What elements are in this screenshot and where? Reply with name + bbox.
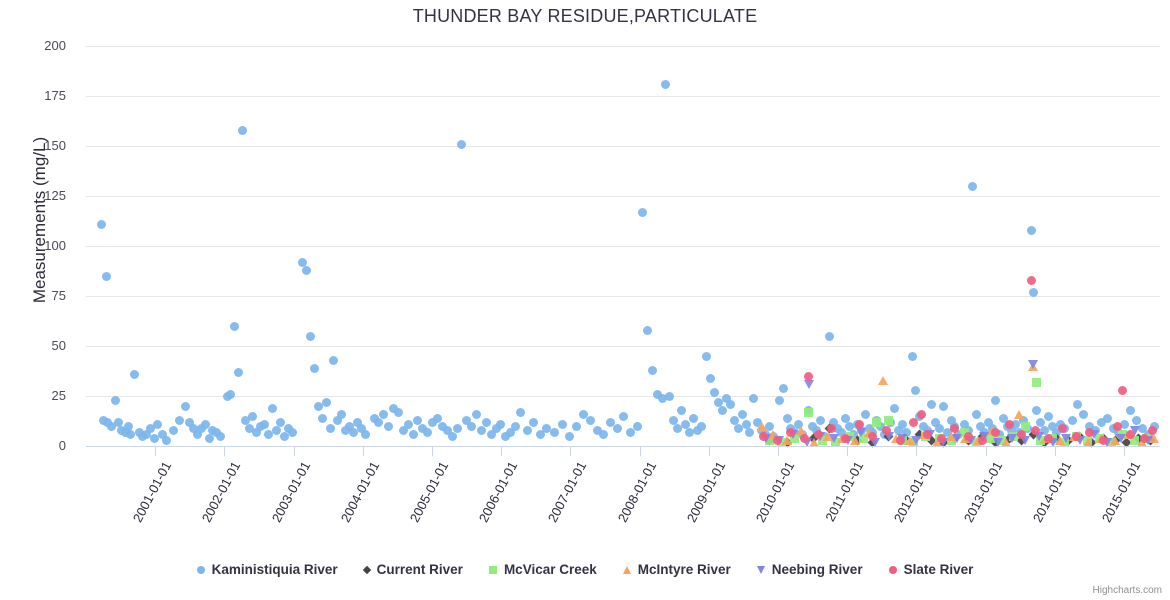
data-point <box>1075 431 1085 441</box>
data-point <box>1134 433 1144 443</box>
data-point <box>1149 434 1159 443</box>
x-axis-tick-mark <box>986 447 987 456</box>
data-point <box>99 416 108 425</box>
data-point <box>988 424 997 433</box>
y-axis-tick-label: 100 <box>6 238 66 253</box>
data-point <box>1126 430 1135 439</box>
data-point <box>734 424 743 433</box>
x-axis-tick-label: 2014-01-01 <box>1030 459 1074 525</box>
data-point <box>935 424 944 433</box>
data-point <box>260 420 269 429</box>
data-point <box>915 412 924 421</box>
data-point <box>1052 433 1062 443</box>
data-point <box>753 418 762 427</box>
data-point <box>1052 428 1061 437</box>
data-point <box>829 434 839 443</box>
data-point <box>722 394 731 403</box>
data-point <box>349 428 358 437</box>
gridline <box>86 96 1160 97</box>
data-point <box>950 433 960 443</box>
gridline <box>86 146 1160 147</box>
data-point <box>103 418 112 427</box>
data-point <box>1114 428 1123 437</box>
data-point <box>1150 422 1159 431</box>
x-axis-tick-mark <box>570 447 571 456</box>
gridline <box>86 296 1160 297</box>
legend-marker-icon <box>889 566 897 574</box>
data-point <box>908 352 917 361</box>
data-point <box>280 432 289 441</box>
data-point <box>248 412 257 421</box>
data-point <box>1028 360 1038 369</box>
legend-label: Neebing River <box>772 562 863 577</box>
x-axis-line <box>86 446 1160 447</box>
data-point <box>911 436 921 445</box>
data-point <box>972 410 981 419</box>
gridline <box>86 246 1160 247</box>
data-point <box>268 404 277 413</box>
x-axis-tick-mark <box>432 447 433 456</box>
data-point <box>511 422 520 431</box>
x-axis-tick-mark <box>363 447 364 456</box>
data-point <box>399 426 408 435</box>
data-point <box>1007 426 1016 435</box>
y-axis-tick-label: 200 <box>6 38 66 53</box>
data-point <box>619 412 628 421</box>
data-point <box>1085 422 1094 431</box>
data-point <box>197 424 206 433</box>
data-point <box>977 431 987 441</box>
data-point <box>779 384 788 393</box>
data-point <box>818 436 827 445</box>
x-axis-tick-label: 2004-01-01 <box>338 459 382 525</box>
data-point <box>1091 426 1100 435</box>
data-point <box>937 434 946 443</box>
x-axis-tick-label: 2015-01-01 <box>1099 459 1143 525</box>
data-point <box>516 408 525 417</box>
data-point <box>849 430 858 439</box>
data-point <box>264 430 273 439</box>
data-point <box>823 432 833 441</box>
data-point <box>995 430 1004 439</box>
legend-marker-icon <box>623 566 631 574</box>
data-point <box>808 422 817 431</box>
data-point <box>773 436 782 445</box>
data-point <box>890 404 899 413</box>
data-point <box>1016 435 1026 445</box>
data-point <box>226 390 235 399</box>
data-point <box>852 435 862 445</box>
data-point <box>952 434 962 443</box>
data-point <box>284 424 293 433</box>
data-point <box>333 416 342 425</box>
legend-label: McVicar Creek <box>504 562 597 577</box>
data-point <box>827 424 836 433</box>
data-point <box>950 424 959 433</box>
data-point <box>947 416 956 425</box>
data-point <box>97 220 106 229</box>
data-point <box>919 430 929 439</box>
data-point <box>586 416 595 425</box>
data-point <box>1085 428 1094 437</box>
data-point <box>288 428 297 437</box>
data-point <box>1005 433 1015 443</box>
x-axis-tick-mark <box>709 447 710 456</box>
data-point <box>891 434 901 443</box>
data-point <box>310 364 319 373</box>
y-axis-tick-label: 175 <box>6 88 66 103</box>
data-point <box>829 418 838 427</box>
data-point <box>919 422 928 431</box>
data-point <box>542 424 551 433</box>
data-point <box>915 429 925 439</box>
data-point <box>931 418 940 427</box>
data-point <box>579 410 588 419</box>
data-point <box>884 432 894 441</box>
data-point <box>121 428 130 437</box>
data-point <box>845 422 854 431</box>
data-point <box>1023 424 1032 433</box>
data-point <box>815 432 825 441</box>
data-point <box>868 432 877 441</box>
data-point <box>980 428 989 437</box>
x-axis-tick-mark <box>294 447 295 456</box>
data-point <box>816 416 825 425</box>
data-point <box>130 370 139 379</box>
data-point <box>917 410 926 419</box>
data-point <box>897 434 907 443</box>
x-axis-tick-mark <box>916 447 917 456</box>
data-point <box>738 410 747 419</box>
data-point <box>1103 414 1112 423</box>
data-point <box>1061 434 1071 443</box>
data-point <box>162 436 171 445</box>
data-point <box>1011 420 1020 429</box>
data-point <box>613 424 622 433</box>
data-point <box>943 428 952 437</box>
y-axis-tick-label: 0 <box>6 438 66 453</box>
data-point <box>361 430 370 439</box>
data-point <box>1040 426 1049 435</box>
x-axis-tick-label: 2001-01-01 <box>130 459 174 525</box>
data-point <box>677 406 686 415</box>
data-point <box>960 420 969 429</box>
data-point <box>413 416 422 425</box>
data-point <box>1042 434 1052 443</box>
data-point <box>927 400 936 409</box>
data-point <box>462 416 471 425</box>
data-point <box>1009 432 1018 441</box>
data-point <box>252 428 261 437</box>
data-point <box>448 432 457 441</box>
data-point <box>1116 434 1126 443</box>
data-point <box>798 430 807 439</box>
legend-item-mcintyre-river[interactable]: McIntyre River <box>623 562 731 577</box>
data-point <box>845 432 854 441</box>
y-axis-title: Measurements (mg/L) <box>30 30 50 410</box>
data-point <box>1020 436 1030 445</box>
gridline <box>86 46 1160 47</box>
data-point <box>1118 386 1127 395</box>
data-point <box>749 394 758 403</box>
legend-marker-icon <box>489 566 497 574</box>
data-point <box>201 420 210 429</box>
data-point <box>1044 412 1053 421</box>
data-point <box>208 426 217 435</box>
data-point <box>673 424 682 433</box>
data-point <box>234 368 243 377</box>
data-point <box>984 418 993 427</box>
data-point <box>960 434 970 443</box>
x-axis-tick-mark <box>778 447 779 456</box>
data-point <box>911 386 920 395</box>
legend-label: Kaministiquia River <box>212 562 338 577</box>
data-point <box>302 266 311 275</box>
data-point <box>1014 410 1024 419</box>
data-point <box>872 416 881 425</box>
legend-marker-icon <box>197 566 205 574</box>
x-axis-tick-label: 2009-01-01 <box>684 459 728 525</box>
x-axis-tick-mark <box>155 447 156 456</box>
data-point <box>1096 434 1106 443</box>
data-point <box>757 422 767 431</box>
data-point <box>1145 435 1155 445</box>
data-point <box>256 422 265 431</box>
data-point <box>782 436 792 445</box>
data-point <box>812 426 821 435</box>
data-point <box>693 426 702 435</box>
data-point <box>960 428 969 437</box>
legend-marker-icon <box>757 566 765 574</box>
data-point <box>978 436 987 445</box>
data-point <box>946 432 956 441</box>
data-point <box>341 426 350 435</box>
data-point <box>790 434 799 443</box>
data-point <box>565 432 574 441</box>
legend-item-mcvicar-creek[interactable]: McVicar Creek <box>489 562 597 577</box>
data-point <box>814 430 823 439</box>
data-point <box>1021 422 1030 431</box>
data-point <box>886 418 895 427</box>
data-point <box>169 426 178 435</box>
data-point <box>428 418 437 427</box>
data-point <box>272 426 281 435</box>
data-point <box>114 418 123 427</box>
data-point <box>193 430 202 439</box>
data-point <box>964 435 974 445</box>
data-point <box>878 376 888 385</box>
data-point <box>135 428 144 437</box>
legend-item-kaministiquia-river[interactable]: Kaministiquia River <box>197 562 338 577</box>
data-point <box>927 435 937 445</box>
data-point <box>902 428 911 437</box>
data-point <box>954 430 963 439</box>
y-axis-tick-label: 150 <box>6 138 66 153</box>
data-point <box>1036 418 1045 427</box>
data-point <box>899 433 909 443</box>
data-point <box>626 428 635 437</box>
data-point <box>357 424 366 433</box>
data-point <box>230 322 239 331</box>
data-point <box>861 410 870 419</box>
data-point <box>661 80 670 89</box>
data-point <box>884 431 894 441</box>
y-axis-tick-label: 25 <box>6 388 66 403</box>
data-point <box>345 422 354 431</box>
data-point <box>529 418 538 427</box>
data-point <box>572 422 581 431</box>
data-point <box>379 410 388 419</box>
data-point <box>765 436 774 445</box>
data-point <box>1143 436 1153 445</box>
x-axis-tick-label: 2008-01-01 <box>614 459 658 525</box>
data-point <box>921 432 930 441</box>
data-point <box>1056 420 1065 429</box>
data-point <box>947 436 956 445</box>
data-point <box>117 426 126 435</box>
data-point <box>212 428 221 437</box>
data-point <box>833 424 842 433</box>
data-point <box>1124 430 1134 439</box>
data-point <box>882 426 891 435</box>
data-point <box>898 420 907 429</box>
data-point <box>1126 406 1135 415</box>
plot-area: 0255075100125150175200 <box>86 46 1160 446</box>
data-point <box>1034 432 1044 441</box>
legend-item-neebing-river[interactable]: Neebing River <box>757 562 863 577</box>
data-point <box>669 416 678 425</box>
data-point <box>1138 424 1147 433</box>
data-point <box>457 140 466 149</box>
legend-item-current-river[interactable]: Current River <box>364 562 463 577</box>
data-point <box>1028 429 1038 439</box>
data-point <box>702 352 711 361</box>
data-point <box>788 430 798 439</box>
data-point <box>1095 434 1104 443</box>
data-point <box>216 432 225 441</box>
data-point <box>841 434 850 443</box>
data-point <box>138 432 147 441</box>
data-point <box>314 402 323 411</box>
data-point <box>726 400 735 409</box>
data-point <box>697 422 706 431</box>
data-point <box>843 436 853 445</box>
data-point <box>1027 276 1036 285</box>
x-axis-tick-label: 2007-01-01 <box>545 459 589 525</box>
legend-label: McIntyre River <box>638 562 731 577</box>
data-point <box>153 420 162 429</box>
legend-item-slate-river[interactable]: Slate River <box>889 562 974 577</box>
data-point <box>1140 434 1149 443</box>
data-point <box>453 424 462 433</box>
data-point <box>786 428 795 437</box>
data-point <box>1132 416 1141 425</box>
data-point <box>1110 435 1120 445</box>
data-point <box>438 422 447 431</box>
data-point <box>976 422 985 431</box>
x-axis-tick-mark <box>224 447 225 456</box>
data-point <box>1036 436 1045 445</box>
data-point <box>986 434 995 443</box>
data-point <box>1055 436 1065 445</box>
data-point <box>825 423 835 433</box>
data-point <box>991 428 1000 437</box>
data-point <box>337 410 346 419</box>
y-axis-tick-label: 50 <box>6 338 66 353</box>
data-point <box>681 420 690 429</box>
data-point <box>935 434 944 443</box>
data-point <box>868 428 877 437</box>
data-point <box>124 422 133 431</box>
data-point <box>1060 424 1069 433</box>
data-point <box>894 426 903 435</box>
data-point <box>850 436 860 445</box>
data-point <box>800 434 809 443</box>
data-point <box>1005 420 1014 429</box>
data-point <box>1099 436 1108 445</box>
data-point <box>966 436 976 445</box>
data-point <box>241 416 250 425</box>
x-axis-tick-mark <box>640 447 641 456</box>
data-point <box>1098 433 1108 443</box>
data-point <box>1075 436 1085 445</box>
data-point <box>1028 362 1038 371</box>
data-point <box>482 418 491 427</box>
data-point <box>1007 434 1017 443</box>
data-point <box>181 402 190 411</box>
data-point <box>389 404 398 413</box>
data-point <box>1017 430 1026 439</box>
data-point <box>329 356 338 365</box>
data-point <box>905 436 915 445</box>
data-point <box>853 420 862 429</box>
data-point <box>880 430 889 439</box>
data-point <box>979 432 989 441</box>
data-point <box>876 422 885 431</box>
data-point <box>158 430 167 439</box>
data-point <box>276 418 285 427</box>
gridline <box>86 346 1160 347</box>
data-point <box>1130 436 1139 445</box>
data-point <box>714 398 723 407</box>
chart-container: THUNDER BAY RESIDUE,PARTICULATE Measurem… <box>0 0 1170 600</box>
data-point <box>394 408 403 417</box>
data-point <box>648 366 657 375</box>
data-point <box>501 432 510 441</box>
data-point <box>794 420 803 429</box>
data-point <box>865 424 874 433</box>
x-axis-tick-mark <box>847 447 848 456</box>
data-point <box>1048 434 1057 443</box>
x-axis-tick-label: 2002-01-01 <box>199 459 243 525</box>
data-point <box>997 436 1006 445</box>
x-axis-tick-label: 2012-01-01 <box>891 459 935 525</box>
data-point <box>353 418 362 427</box>
data-point <box>761 434 771 443</box>
data-point <box>1032 378 1041 387</box>
data-point <box>898 436 907 445</box>
data-point <box>384 422 393 431</box>
gridline <box>86 396 1160 397</box>
data-point <box>786 424 795 433</box>
data-point <box>467 422 476 431</box>
data-point <box>1148 426 1157 435</box>
data-point <box>685 428 694 437</box>
data-point <box>1083 436 1092 445</box>
data-point <box>142 430 151 439</box>
data-point <box>423 428 432 437</box>
data-point <box>1142 434 1151 443</box>
